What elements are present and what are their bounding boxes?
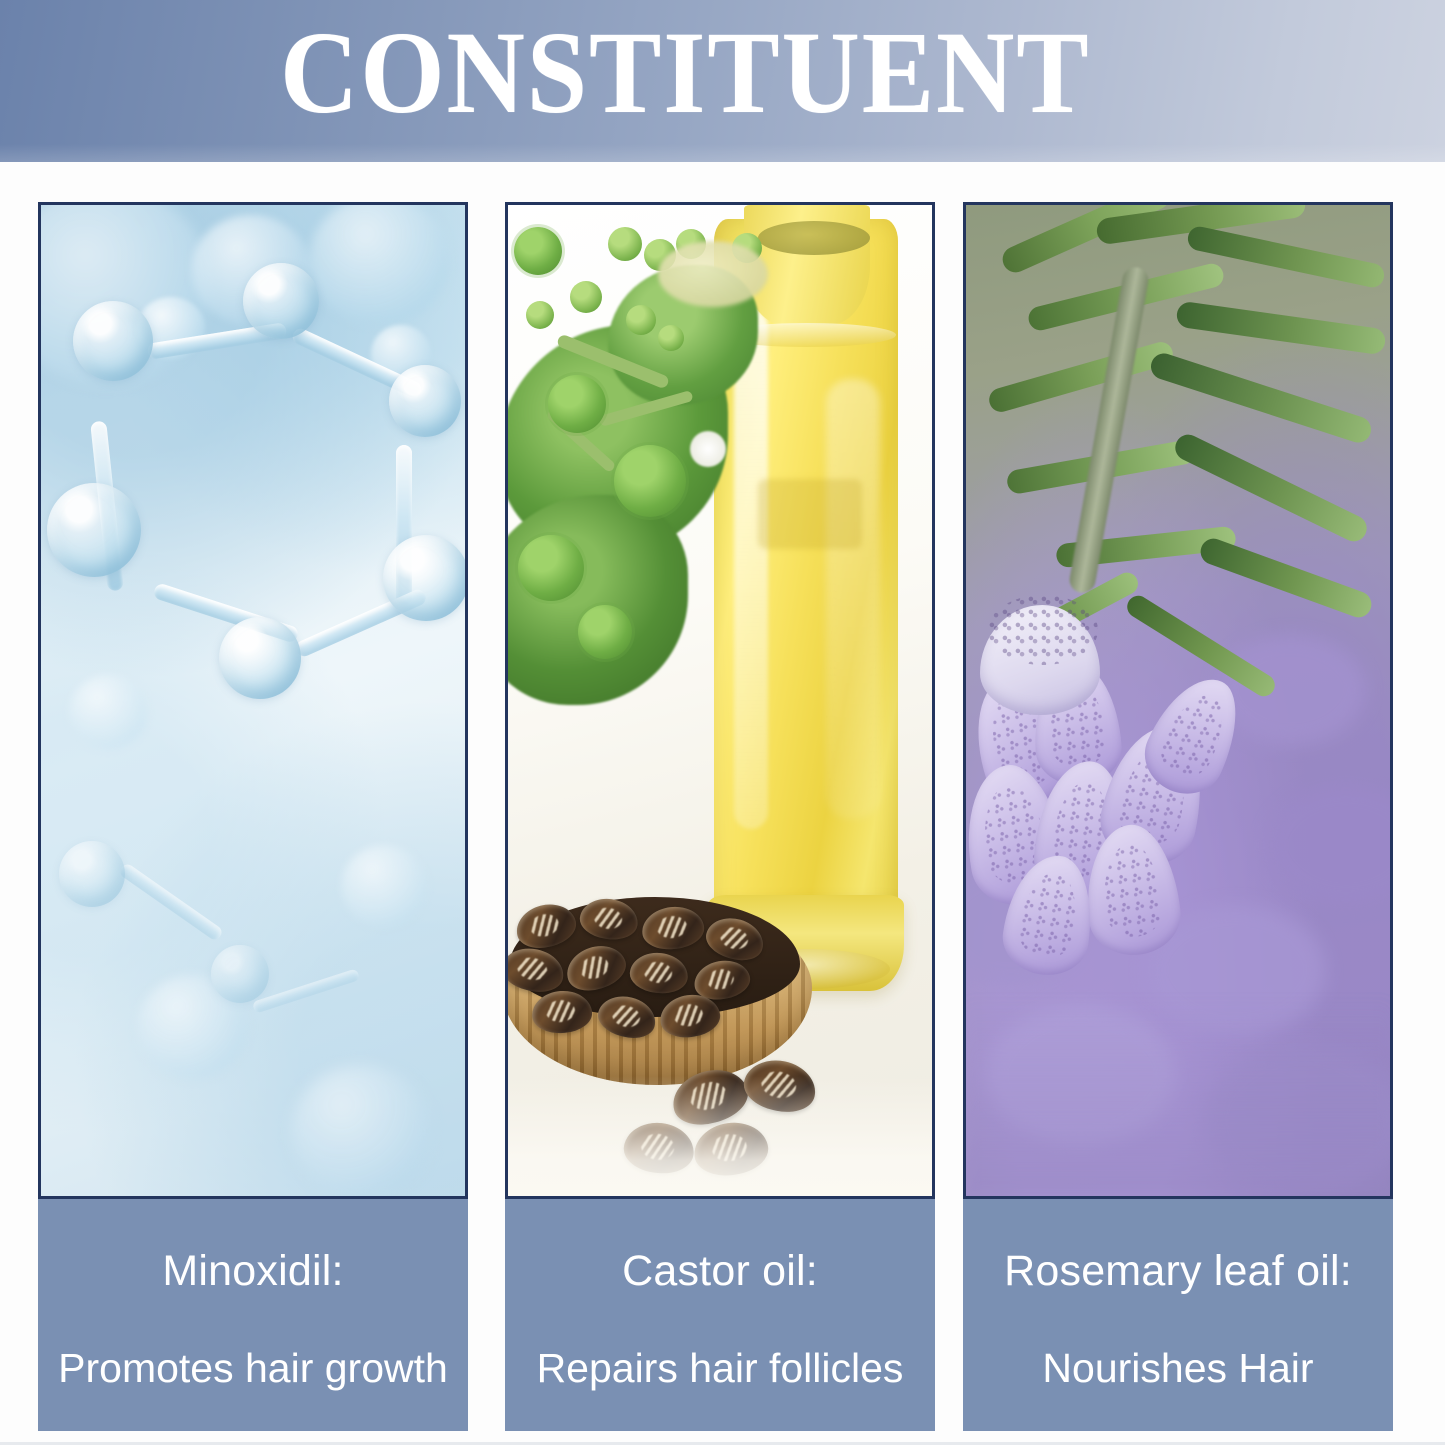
header-bottom-shade	[0, 144, 1445, 162]
constituent-benefit: Nourishes Hair	[963, 1345, 1393, 1391]
page-title: CONSTITUENT	[280, 14, 1091, 132]
oil-surface-herbs	[758, 221, 870, 255]
molecule-atom	[211, 945, 269, 1003]
castor-oil-photo	[505, 202, 935, 1199]
castor-spiky-fruit	[518, 535, 584, 601]
rosemary-needle	[1197, 535, 1375, 621]
constituent-card-rosemary: Rosemary leaf oil: Nourishes Hair	[963, 202, 1393, 1431]
rosemary-needle	[1148, 350, 1375, 446]
castor-berry	[608, 227, 642, 261]
castor-foliage	[505, 495, 688, 705]
rosemary-bud-speckles	[988, 595, 1098, 665]
constituent-columns: Minoxidil: Promotes hair growth	[0, 162, 1445, 1445]
molecule-atom	[73, 301, 153, 381]
castor-berry	[526, 301, 554, 329]
bg-bubble	[291, 1065, 431, 1197]
rosemary-scene	[966, 205, 1390, 1196]
molecule-atom	[47, 483, 141, 577]
constituent-title: Castor oil:	[505, 1247, 935, 1295]
constituent-benefit: Promotes hair growth	[38, 1345, 468, 1391]
bokeh-flower	[1266, 785, 1393, 905]
constituent-title: Rosemary leaf oil:	[963, 1247, 1393, 1295]
castor-berry	[626, 305, 656, 335]
molecule-scene	[41, 205, 465, 1196]
infographic-page: CONSTITUENT	[0, 0, 1445, 1445]
castor-berry	[570, 281, 602, 313]
bg-bubble	[69, 675, 147, 749]
castor-spiky-fruit	[548, 375, 606, 433]
caption-panel-rosemary: Rosemary leaf oil: Nourishes Hair	[963, 1199, 1393, 1431]
molecule-atom	[219, 617, 301, 699]
molecule-atom	[383, 535, 468, 621]
bokeh-flower	[1216, 635, 1366, 745]
rosemary-bottom-blur	[966, 996, 1390, 1196]
constituent-card-minoxidil: Minoxidil: Promotes hair growth	[38, 202, 468, 1431]
rosemary-leaf-photo	[963, 202, 1393, 1199]
castor-oil-scene	[508, 205, 932, 1196]
minoxidil-molecule-photo	[38, 202, 468, 1199]
constituent-benefit: Repairs hair follicles	[505, 1345, 935, 1391]
molecule-atom	[59, 841, 125, 907]
molecule-atom	[389, 365, 461, 437]
castor-blossom	[690, 431, 726, 467]
molecule-bond	[118, 862, 224, 942]
bg-bubble	[309, 202, 449, 325]
castor-spiky-fruit	[514, 227, 562, 275]
castor-blossom	[658, 241, 768, 307]
castor-spiky-fruit	[614, 445, 686, 517]
constituent-title: Minoxidil:	[38, 1247, 468, 1295]
caption-panel-castor-oil: Castor oil: Repairs hair follicles	[505, 1199, 935, 1431]
rosemary-needle	[1175, 301, 1387, 356]
header-banner: CONSTITUENT	[0, 0, 1445, 162]
bg-bubble	[341, 845, 427, 927]
rosemary-needle	[986, 339, 1175, 414]
constituent-card-castor-oil: Castor oil: Repairs hair follicles	[505, 202, 935, 1431]
table-surface-fade	[508, 1076, 932, 1196]
caption-panel-minoxidil: Minoxidil: Promotes hair growth	[38, 1199, 468, 1431]
castor-berry	[658, 325, 684, 351]
molecule-atom	[243, 263, 319, 339]
castor-spiky-fruit	[578, 605, 632, 659]
